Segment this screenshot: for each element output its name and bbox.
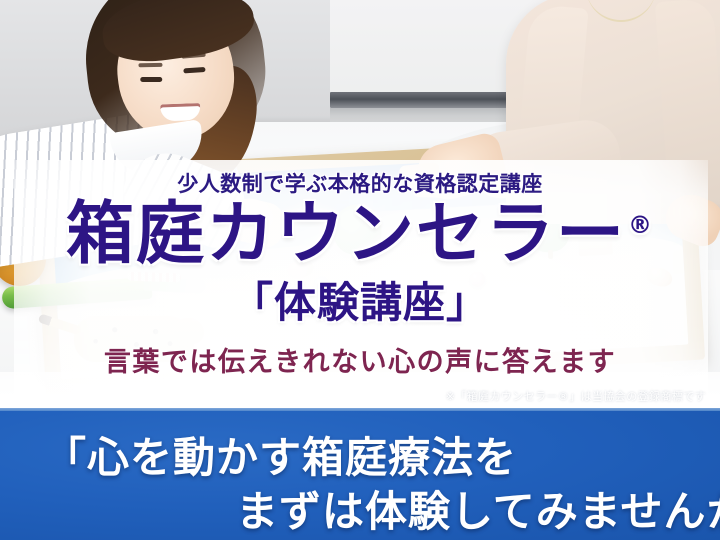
headline-block: 少人数制で学ぶ本格的な資格認定講座 箱庭カウンセラー® 「体験講座」 言葉では伝…	[0, 160, 720, 408]
participant-brow-left	[138, 63, 162, 67]
course-subtitle: 「体験講座」	[0, 269, 720, 330]
trademark-disclaimer: ※「箱庭カウンセラー®」は当協会の登録商標です	[446, 388, 706, 404]
bottom-cta-banner: 「心を動かす箱庭療法を まずは体験してみませんか?」	[0, 408, 720, 540]
main-title-text: 箱庭カウンセラー	[66, 195, 626, 274]
kicker-text: 少人数制で学ぶ本格的な資格認定講座	[0, 160, 720, 198]
participant-eye-right	[183, 67, 205, 74]
registered-trademark-icon: ®	[628, 211, 654, 239]
promotional-banner: 少人数制で学ぶ本格的な資格認定講座 箱庭カウンセラー® 「体験講座」 言葉では伝…	[0, 0, 720, 540]
cta-line-1: 「心を動かす箱庭療法を	[44, 424, 517, 485]
cta-line-2: まずは体験してみませんか?」	[236, 478, 720, 539]
participant-smile	[160, 103, 201, 121]
page-title: 箱庭カウンセラー®	[0, 200, 720, 269]
tagline-text: 言葉では伝えきれない心の声に答えます	[0, 340, 720, 379]
participant-eye-left	[140, 77, 162, 82]
